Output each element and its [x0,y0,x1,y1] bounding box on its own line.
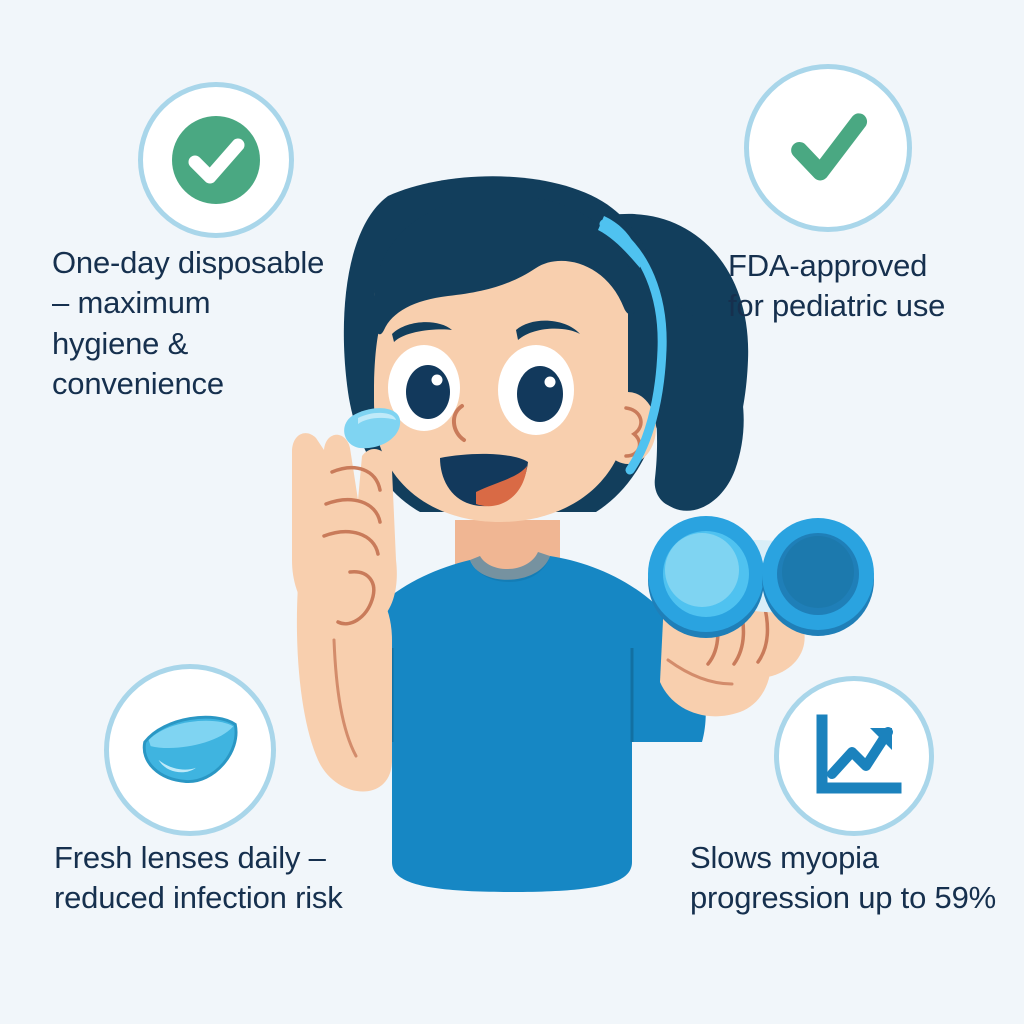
iris-left [406,365,450,419]
check-circle-icon [166,110,266,210]
eye-highlight-right [545,377,556,388]
feature-icon-hygiene [138,82,294,238]
trend-chart-icon [804,706,904,806]
eye-highlight-left [432,375,443,386]
contact-lens-icon [131,691,249,809]
lens-case-cap-left-center [665,533,739,607]
check-mark-icon [773,93,883,203]
infographic-canvas: One-day disposable – maximum hygiene & c… [0,0,1024,1024]
feature-label-fda: FDA-approved for pediatric use [728,246,1008,327]
feature-label-fresh: Fresh lenses daily – reduced infection r… [54,838,384,919]
feature-icon-fresh [104,664,276,836]
iris-right [517,366,563,422]
feature-icon-myopia [774,676,934,836]
feature-icon-fda [744,64,912,232]
lens-case-cap-right-center [782,536,854,608]
feature-label-myopia: Slows myopia progression up to 59% [690,838,1010,919]
feature-label-hygiene: One-day disposable – maximum hygiene & c… [52,243,362,404]
